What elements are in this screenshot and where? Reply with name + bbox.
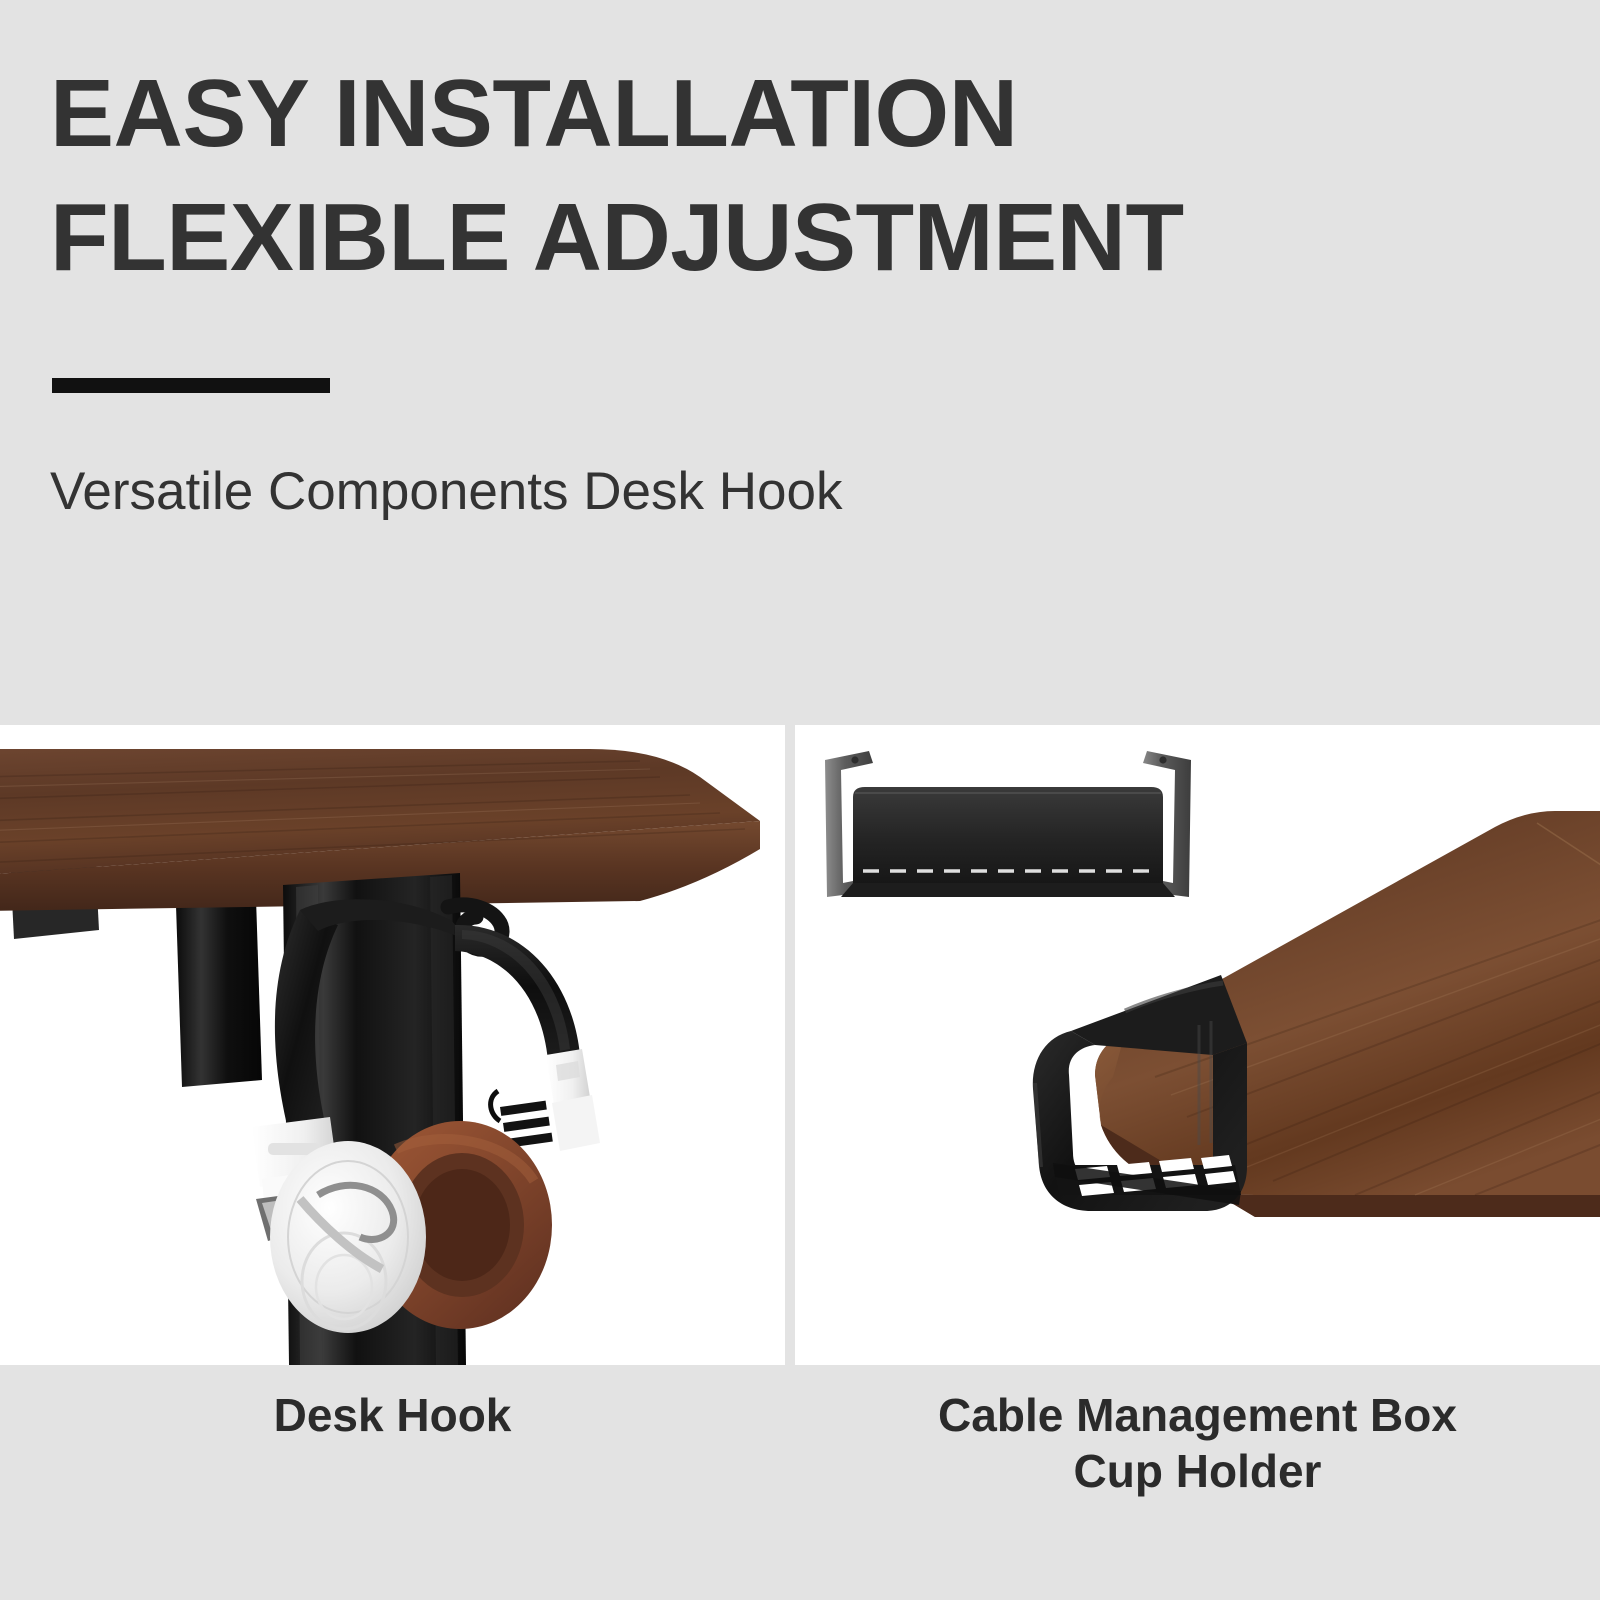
panel-desk-hook <box>0 725 785 1365</box>
page-subtitle: Versatile Components Desk Hook <box>50 461 842 522</box>
caption-cable-box-cup-holder: Cable Management Box Cup Holder <box>795 1387 1600 1499</box>
header-section: EASY INSTALLATION FLEXIBLE ADJUSTMENT Ve… <box>0 0 1600 707</box>
caption-desk-hook: Desk Hook <box>0 1387 785 1443</box>
page-title: EASY INSTALLATION FLEXIBLE ADJUSTMENT <box>50 52 1550 300</box>
panel-cable-box-cup-holder <box>795 725 1600 1365</box>
title-divider-rule <box>52 378 330 393</box>
product-image-panels <box>0 725 1600 1365</box>
panel-captions: Desk Hook Cable Management Box Cup Holde… <box>0 1365 1600 1600</box>
desk-hook-illustration <box>0 725 785 1365</box>
cable-box-cup-holder-illustration <box>795 725 1600 1365</box>
